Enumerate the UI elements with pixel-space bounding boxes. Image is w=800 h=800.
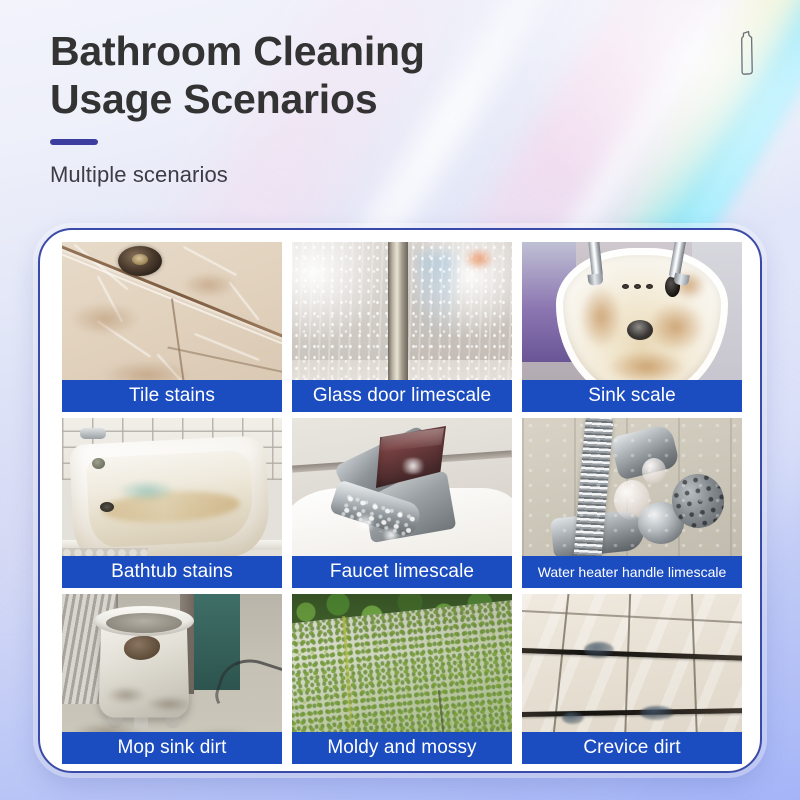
page-title: Bathroom Cleaning Usage Scenarios bbox=[50, 28, 610, 123]
scenario-label: Moldy and mossy bbox=[292, 732, 512, 764]
scenario-card-bathtub-stains[interactable]: Bathtub stains bbox=[62, 418, 282, 588]
page-subtitle: Multiple scenarios bbox=[50, 162, 610, 188]
scenario-label: Water heater handle limescale bbox=[522, 556, 742, 588]
scenario-card-moldy-and-mossy[interactable]: Moldy and mossy bbox=[292, 594, 512, 764]
scenario-grid: Tile stains bbox=[62, 242, 742, 763]
scenario-label: Faucet limescale bbox=[292, 556, 512, 588]
scenario-panel: Tile stains bbox=[38, 228, 762, 773]
scenario-card-faucet-limescale[interactable]: Faucet limescale bbox=[292, 418, 512, 588]
scenario-card-glass-door-limescale[interactable]: Glass door limescale bbox=[292, 242, 512, 412]
scenario-card-sink-scale[interactable]: Sink scale bbox=[522, 242, 742, 412]
scenario-label: Mop sink dirt bbox=[62, 732, 282, 764]
scenario-label: Sink scale bbox=[522, 380, 742, 412]
header: Bathroom Cleaning Usage Scenarios Multip… bbox=[50, 28, 610, 188]
poster-root: Bathroom Cleaning Usage Scenarios Multip… bbox=[0, 0, 800, 800]
scenario-label: Bathtub stains bbox=[62, 556, 282, 588]
scenario-card-water-heater-handle-limescale[interactable]: Water heater handle limescale bbox=[522, 418, 742, 588]
scenario-label: Glass door limescale bbox=[292, 380, 512, 412]
scenario-card-crevice-dirt[interactable]: Crevice dirt bbox=[522, 594, 742, 764]
scenario-card-tile-stains[interactable]: Tile stains bbox=[62, 242, 282, 412]
spray-bottle-icon bbox=[736, 30, 758, 76]
scenario-card-mop-sink-dirt[interactable]: Mop sink dirt bbox=[62, 594, 282, 764]
scenario-panel-wrapper: Tile stains bbox=[38, 228, 762, 773]
scenario-label: Tile stains bbox=[62, 380, 282, 412]
title-accent-bar bbox=[50, 139, 98, 145]
scenario-label: Crevice dirt bbox=[522, 732, 742, 764]
